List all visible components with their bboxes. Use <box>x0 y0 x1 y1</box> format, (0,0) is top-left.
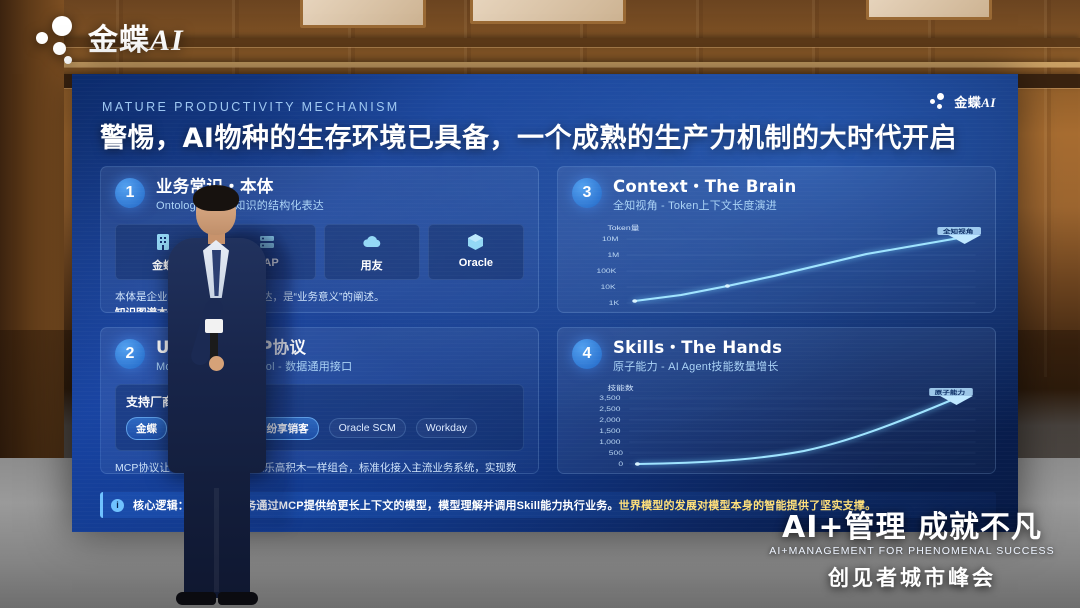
brand-logo-ai: AI <box>150 24 184 57</box>
brand-logo-cn: 金蝶 <box>88 23 150 58</box>
slide-brand-text: 金蝶AI <box>954 92 996 111</box>
slide-brand-dots-icon <box>930 93 948 111</box>
cloud-icon <box>327 232 417 252</box>
skills-chart: 技能数 3,500 2,500 2,000 1,500 1,000 500 0 <box>572 382 981 474</box>
card-context-subtitle: 全知视角 - Token上下文长度演进 <box>613 200 797 213</box>
svg-text:500: 500 <box>609 449 623 457</box>
wall-beam-trim <box>0 62 1080 67</box>
context-chart-svg: Token量 10M 1M 100K 10K 1K <box>572 221 981 313</box>
speaker-leg-gap <box>214 488 219 592</box>
wall-panel-light-2 <box>470 0 626 24</box>
slide-brand-cn: 金蝶 <box>954 95 981 110</box>
svg-text:10K: 10K <box>601 283 616 291</box>
speaker-shoe-left <box>176 592 216 605</box>
skills-y-axis-title: 技能数 <box>607 383 634 391</box>
slide-headline: 警惕，AI物种的生存环境已具备，一个成熟的生产力机制的大时代开启 <box>100 116 998 155</box>
vendor-tile-yonyou-label: 用友 <box>327 257 417 273</box>
svg-text:1K: 1K <box>609 299 619 307</box>
event-name: 创见者城市峰会 <box>762 562 1062 592</box>
brand-dots-icon <box>36 14 78 60</box>
svg-text:3,500: 3,500 <box>599 394 620 402</box>
skills-chart-svg: 技能数 3,500 2,500 2,000 1,500 1,000 500 0 <box>572 382 981 474</box>
skills-y-ticks: 3,500 2,500 2,000 1,500 1,000 500 0 <box>599 394 623 468</box>
speaker-hair <box>193 185 239 211</box>
info-icon: i <box>111 499 124 512</box>
svg-text:1M: 1M <box>607 251 619 259</box>
venue-brand-logo: 金蝶AI <box>36 14 184 60</box>
vendor-tile-oracle[interactable]: Oracle <box>428 224 524 280</box>
context-y-ticks: 10M 1M 100K 10K 1K <box>597 235 620 307</box>
cube-icon <box>431 232 521 252</box>
event-lockup: AI+管理 成就不凡 AI+MANAGEMENT FOR PHENOMENAL … <box>762 512 1062 593</box>
svg-text:2,000: 2,000 <box>599 416 620 424</box>
svg-text:1,500: 1,500 <box>599 427 620 435</box>
svg-text:原子能力: 原子能力 <box>935 388 966 396</box>
wall-panel-light-3 <box>866 0 992 20</box>
slide-brand-ai: AI <box>981 95 996 110</box>
context-chart: Token量 10M 1M 100K 10K 1K <box>572 221 981 313</box>
card-skills-title: Skills・The Hands <box>613 339 782 358</box>
brand-logo-text: 金蝶AI <box>88 15 184 59</box>
chip-oracle-scm[interactable]: Oracle SCM <box>329 418 406 438</box>
slide-brand-logo: 金蝶AI <box>930 92 996 111</box>
card-skills-number: 4 <box>572 339 602 369</box>
context-y-axis-title: Token量 <box>607 224 639 232</box>
context-series-line <box>635 237 965 301</box>
slide-eyebrow: MATURE PRODUCTIVITY MECHANISM <box>102 100 400 114</box>
chip-workday[interactable]: Workday <box>416 418 477 438</box>
svg-text:0: 0 <box>618 460 623 468</box>
speaker-hand <box>209 356 224 371</box>
card-context: 3 Context・The Brain 全知视角 - Token上下文长度演进 <box>557 166 996 313</box>
svg-text:全知视角: 全知视角 <box>942 227 974 235</box>
skills-point-2023 <box>635 462 640 466</box>
card-context-number: 3 <box>572 178 602 208</box>
skills-chart-gridlines <box>629 398 975 464</box>
card-skills-titles: Skills・The Hands 原子能力 - AI Agent技能数量增长 <box>613 339 782 374</box>
card-context-header: 3 Context・The Brain 全知视角 - Token上下文长度演进 <box>572 178 981 213</box>
card-mcp-number: 2 <box>115 339 145 369</box>
context-point-2022 <box>725 284 730 288</box>
event-slogan-en: AI+MANAGEMENT FOR PHENOMENAL SUCCESS <box>762 545 1062 557</box>
svg-text:1,000: 1,000 <box>599 438 620 446</box>
event-slogan-cn: AI+管理 成就不凡 <box>762 512 1062 544</box>
chip-kingdee[interactable]: 金蝶 <box>126 417 167 440</box>
speaker-person <box>162 188 282 608</box>
skills-peak-marker: 原子能力 <box>929 388 973 405</box>
context-point-2020 <box>632 299 637 303</box>
speaker-shoe-right <box>218 592 258 605</box>
svg-text:2,500: 2,500 <box>599 405 620 413</box>
svg-text:10M: 10M <box>602 235 618 243</box>
wall-panel-light-1 <box>300 0 426 28</box>
svg-text:100K: 100K <box>597 267 617 275</box>
presentation-photo: 金蝶AI 金蝶AI MATURE PRODUCTIVITY MECHANISM … <box>0 0 1080 608</box>
card-ontology-number: 1 <box>115 178 145 208</box>
card-skills: 4 Skills・The Hands 原子能力 - AI Agent技能数量增长 <box>557 327 996 474</box>
context-chart-gridlines <box>627 239 976 303</box>
card-context-titles: Context・The Brain 全知视角 - Token上下文长度演进 <box>613 178 797 213</box>
vendor-tile-yonyou[interactable]: 用友 <box>324 224 420 280</box>
vendor-tile-oracle-label: Oracle <box>431 257 521 269</box>
card-skills-subtitle: 原子能力 - AI Agent技能数量增长 <box>613 361 782 374</box>
card-skills-header: 4 Skills・The Hands 原子能力 - AI Agent技能数量增长 <box>572 339 981 374</box>
card-context-title: Context・The Brain <box>613 178 797 197</box>
microphone-flag <box>205 319 223 333</box>
